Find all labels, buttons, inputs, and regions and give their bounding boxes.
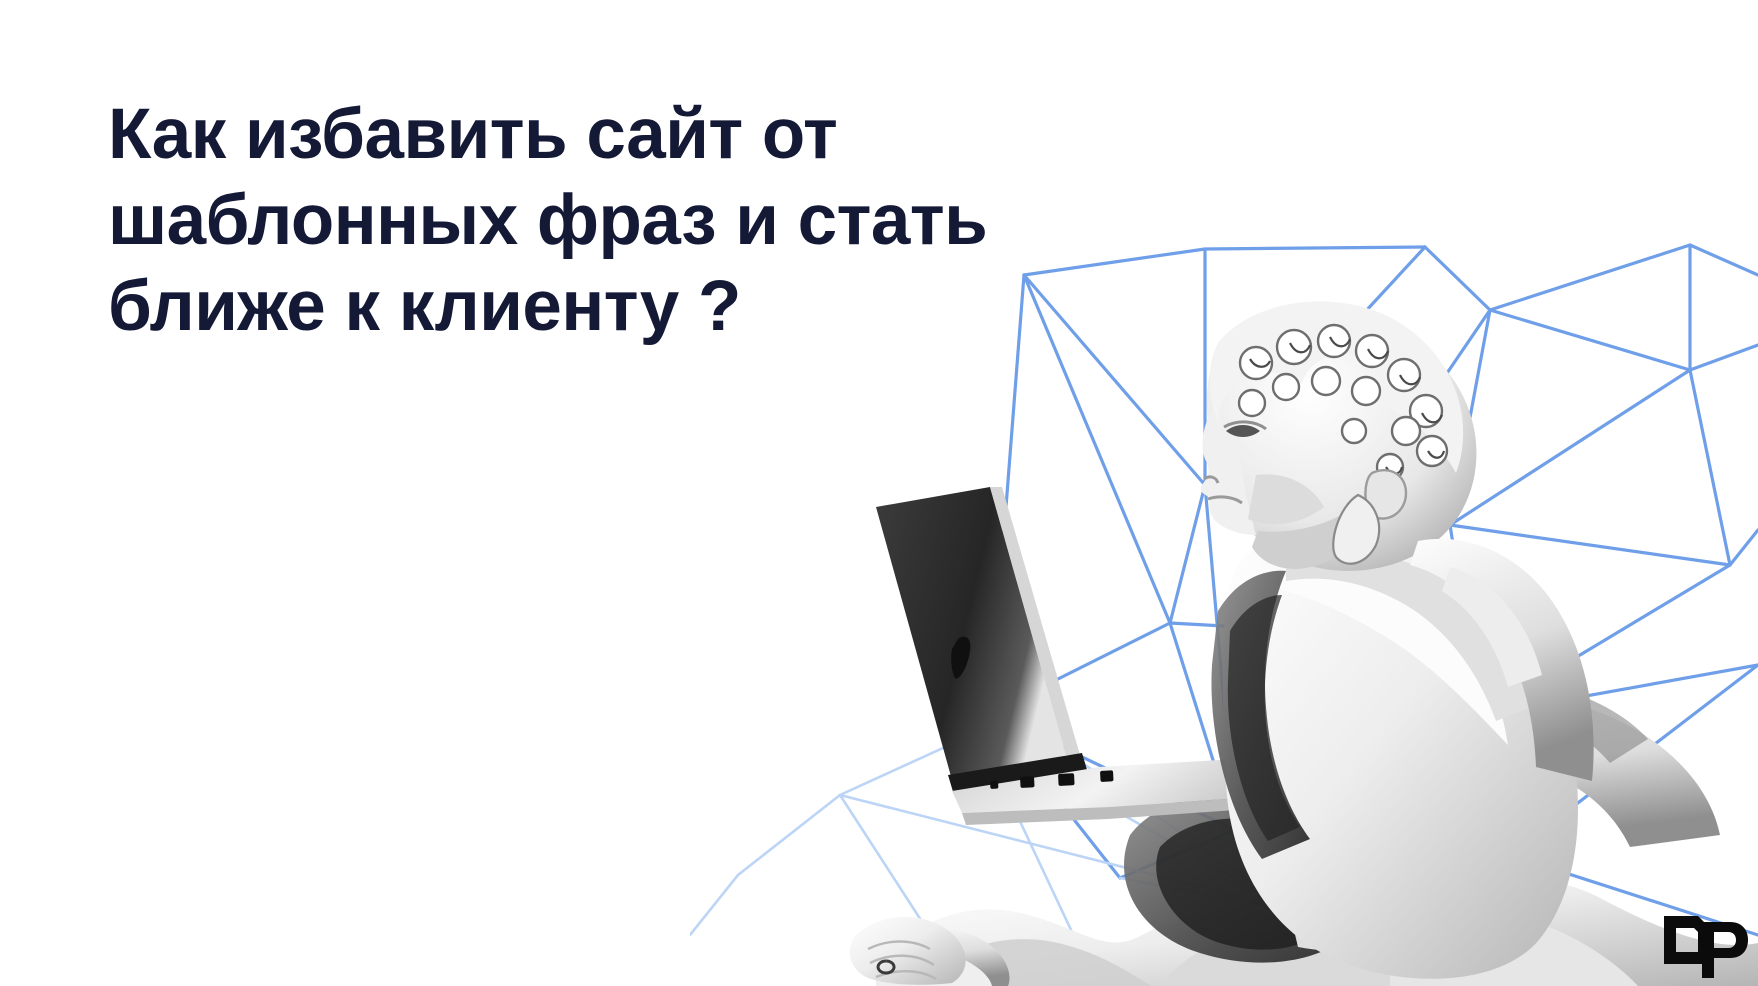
- statue-with-laptop-graphic: [690, 235, 1758, 986]
- hero-illustration: [690, 235, 1758, 986]
- slide-canvas: Как избавить сайт от шаблонных фраз и ст…: [0, 0, 1758, 986]
- dp-logo[interactable]: [1658, 908, 1752, 982]
